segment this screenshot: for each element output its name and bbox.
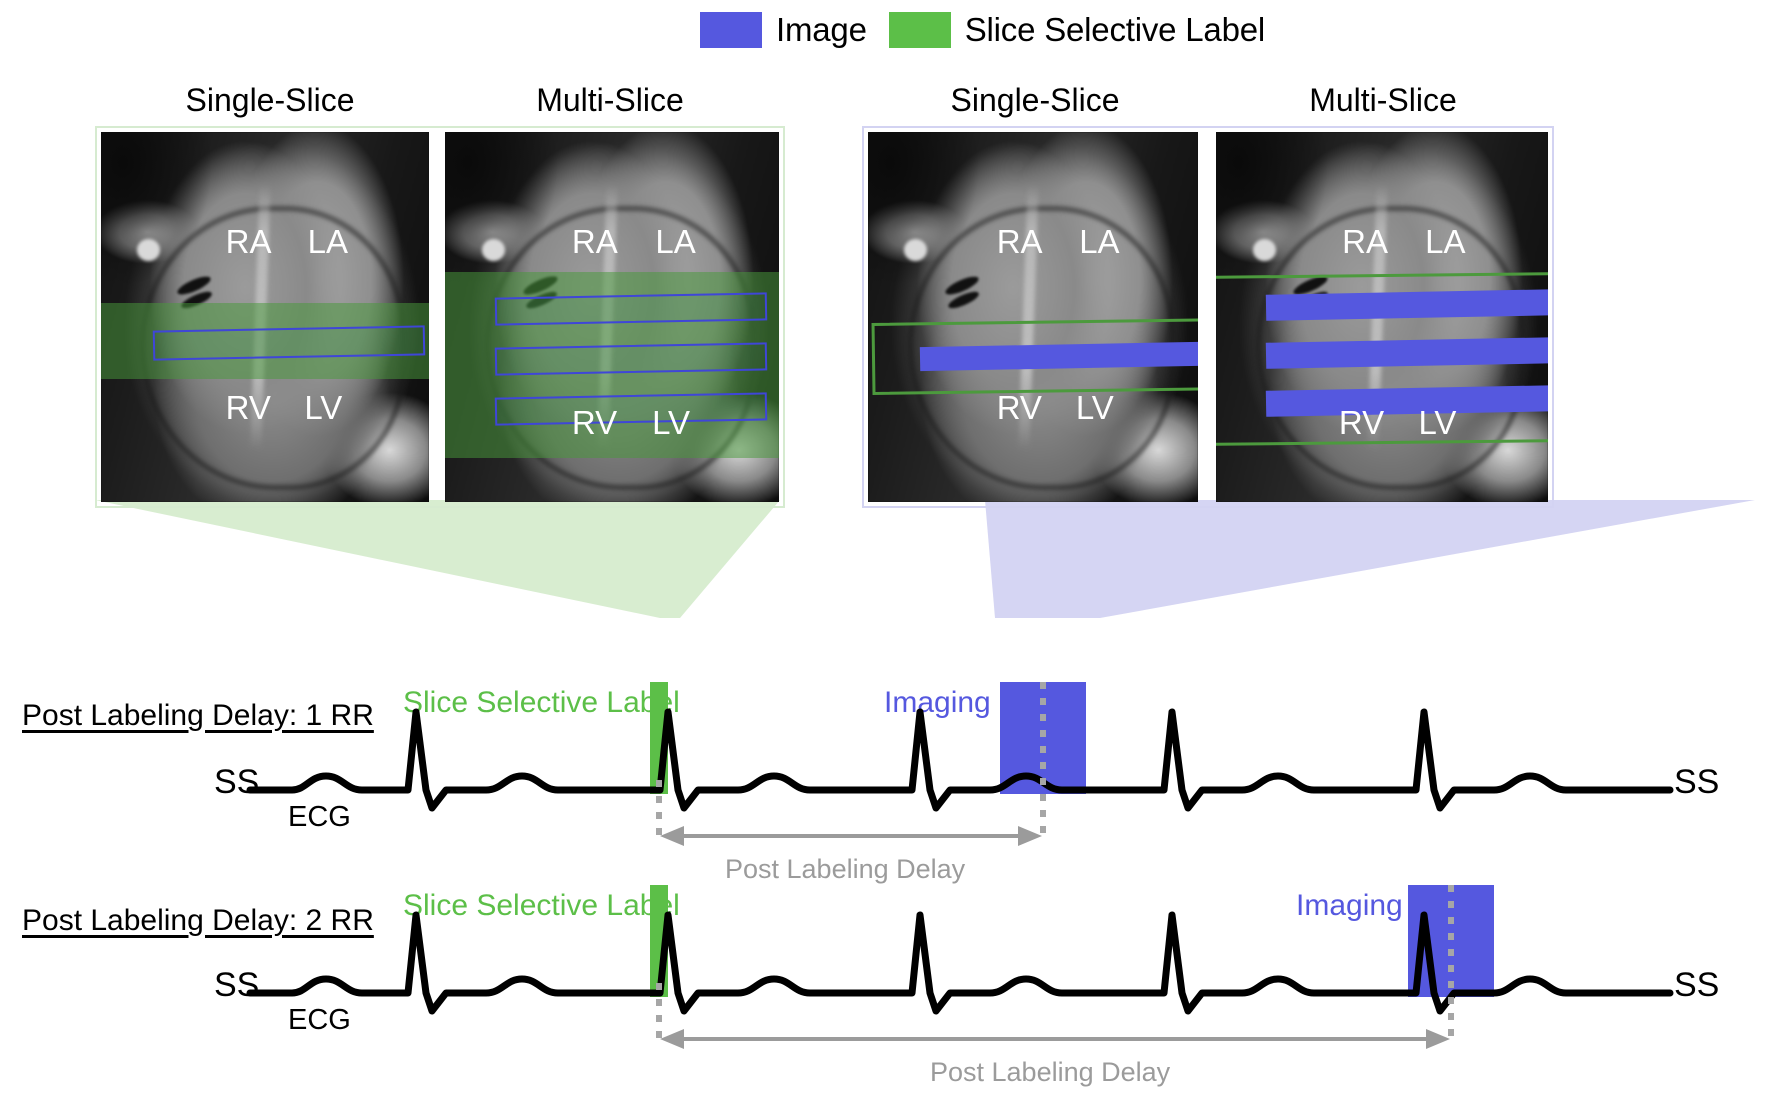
anatomy-label-rv: RV xyxy=(997,391,1042,425)
legend-label-image: Image xyxy=(776,12,867,48)
anatomy-label-ra: RA xyxy=(226,225,272,259)
pld-annotation-row2: Post Labeling Delay xyxy=(930,1058,1170,1086)
figure-canvas: Image Slice Selective Label Single-Slice… xyxy=(0,0,1780,1116)
panel-title-right-multi: Multi-Slice xyxy=(1218,83,1548,117)
panel-title-left-single: Single-Slice xyxy=(105,83,435,117)
anatomy-label-lv: LV xyxy=(304,391,342,425)
anatomy-label-lv: LV xyxy=(1419,406,1457,440)
anatomy-label-rv: RV xyxy=(226,391,271,425)
imaging-slice-outline xyxy=(495,342,767,375)
anatomy-label-la: LA xyxy=(655,225,695,259)
imaging-slice-bar xyxy=(920,341,1198,371)
imaging-slice-bar xyxy=(1266,385,1548,417)
legend-item-image: Image xyxy=(700,12,867,48)
anatomy-label-ra: RA xyxy=(572,225,618,259)
anatomy-label-lv: LV xyxy=(652,406,690,440)
color-swatch-icon xyxy=(700,12,762,48)
mri-panel-label-multi-slice: RA LA RV LV xyxy=(445,132,779,502)
anatomy-label-la: LA xyxy=(1079,225,1119,259)
anatomy-label-ra: RA xyxy=(1342,225,1388,259)
anatomy-label-rv: RV xyxy=(1339,406,1384,440)
imaging-slice-bar xyxy=(1266,289,1548,321)
anatomy-label-rv: RV xyxy=(572,406,617,440)
connector-wedge-purple xyxy=(0,500,1780,620)
anatomy-label-la: LA xyxy=(1425,225,1465,259)
mri-panel-label-single-slice: RA LA RV LV xyxy=(101,132,429,502)
anatomy-label-lv: LV xyxy=(1076,391,1114,425)
pld-annotation-row1: Post Labeling Delay xyxy=(725,855,965,883)
imaging-slice-bar xyxy=(1266,337,1548,369)
legend-label-slice-selective-label: Slice Selective Label xyxy=(965,12,1265,48)
anatomy-label-ra: RA xyxy=(997,225,1043,259)
legend: Image Slice Selective Label xyxy=(700,12,1265,48)
mri-panel-image-single-slice: RA LA RV LV xyxy=(868,132,1198,502)
pld-measure-row2 xyxy=(0,983,1780,1103)
imaging-slice-outline xyxy=(495,392,767,425)
legend-item-slice-selective-label: Slice Selective Label xyxy=(889,12,1265,48)
mri-panel-image-multi-slice: RA LA RV LV xyxy=(1216,132,1548,502)
panel-title-left-multi: Multi-Slice xyxy=(445,83,775,117)
anatomy-label-la: LA xyxy=(308,225,348,259)
panel-title-right-single: Single-Slice xyxy=(870,83,1200,117)
color-swatch-icon xyxy=(889,12,951,48)
imaging-slice-outline xyxy=(495,292,767,325)
imaging-slice-outline xyxy=(153,325,426,360)
